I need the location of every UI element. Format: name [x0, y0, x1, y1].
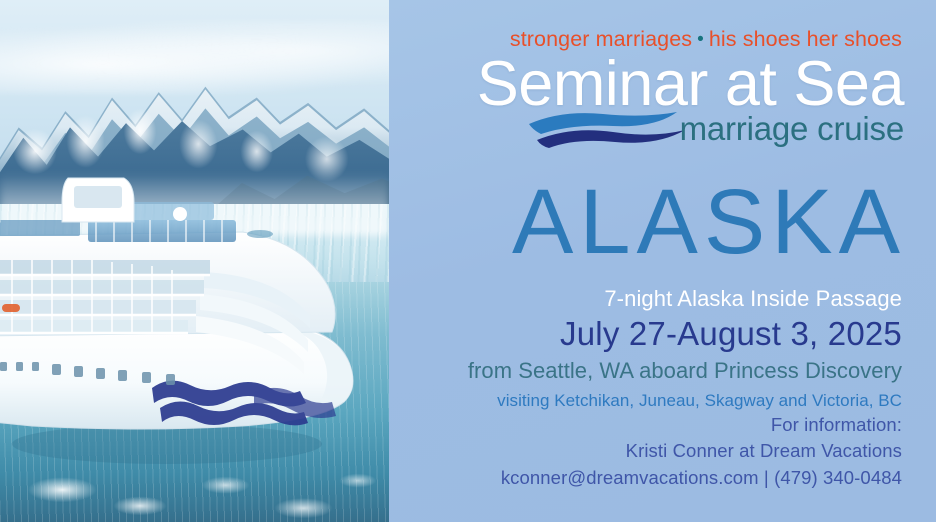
destination-title: ALASKA	[512, 176, 906, 268]
brand-subtitle: marriage cruise	[680, 110, 904, 148]
cruise-ship-illustration	[0, 176, 389, 476]
itinerary-dates: July 27-August 3, 2025	[468, 314, 902, 354]
contact-block: For information: Kristi Conner at Dream …	[501, 412, 902, 491]
itinerary-ports: visiting Ketchikan, Juneau, Skagway and …	[468, 391, 902, 411]
info-panel: stronger marriages•his shoes her shoes S…	[389, 0, 936, 522]
tagline-left: stronger marriages	[510, 27, 692, 51]
bullet-separator-icon: •	[692, 29, 709, 50]
itinerary-details: 7-night Alaska Inside Passage July 27-Au…	[468, 286, 902, 411]
itinerary-nights: 7-night Alaska Inside Passage	[468, 286, 902, 312]
cruise-flyer: stronger marriages•his shoes her shoes S…	[0, 0, 936, 522]
alaska-glacier-cruise-ship-photo	[0, 0, 389, 522]
contact-agent: Kristi Conner at Dream Vacations	[501, 438, 902, 464]
tagline-right: his shoes her shoes	[709, 27, 902, 51]
cloud-band	[0, 21, 389, 94]
contact-email-phone[interactable]: kconner@dreamvacations.com | (479) 340-0…	[501, 465, 902, 491]
wave-swoosh-logo-icon	[527, 106, 702, 152]
contact-heading: For information:	[501, 412, 902, 438]
itinerary-departure: from Seattle, WA aboard Princess Discove…	[468, 358, 902, 384]
